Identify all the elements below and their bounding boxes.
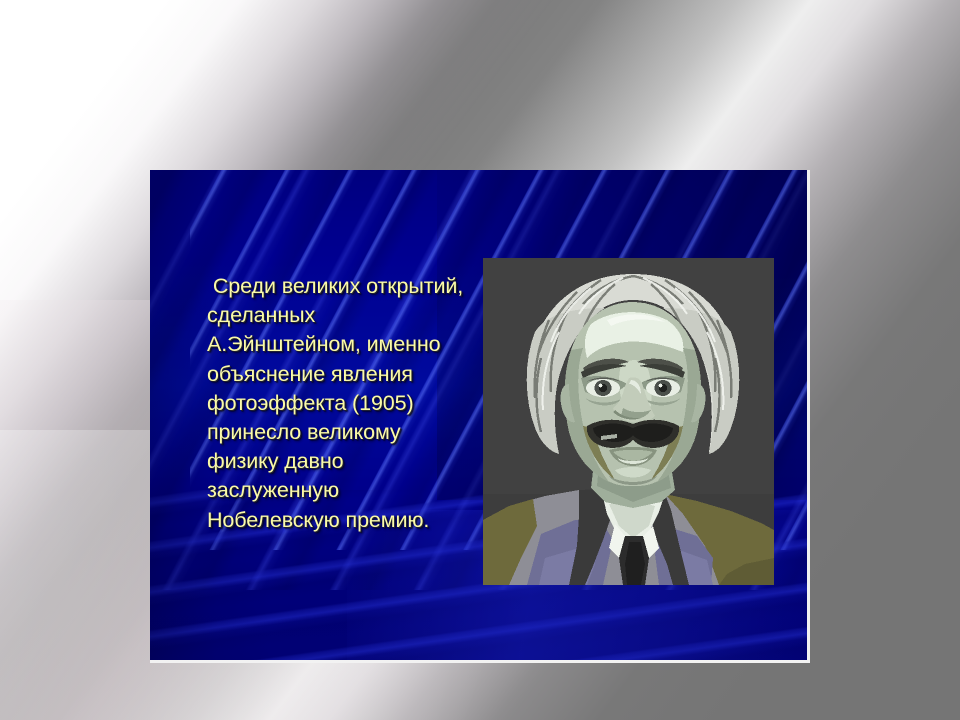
portrait-artwork [483,258,774,585]
einstein-portrait-image [483,258,774,585]
slide-content: Среди великих открытий, сделанных А.Эйнш… [150,170,807,660]
slide-body-text: Среди великих открытий, сделанных А.Эйнш… [207,272,472,535]
presentation-slide[interactable]: Среди великих открытий, сделанных А.Эйнш… [150,170,810,663]
desktop-background: Среди великих открытий, сделанных А.Эйнш… [0,0,960,720]
